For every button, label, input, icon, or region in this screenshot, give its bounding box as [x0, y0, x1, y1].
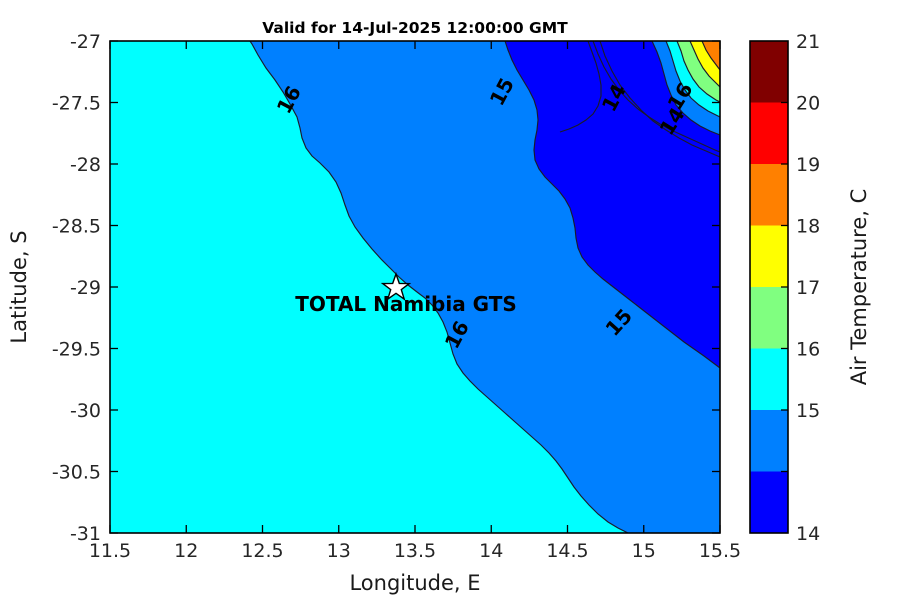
y-tick-label: -28.5 — [52, 216, 101, 238]
colorbar-band-13-14 — [750, 472, 788, 534]
contour-fill-group: 16 15 14 16 14 16 15 TOTAL Namibia GTS — [110, 41, 720, 533]
x-tick-label: 14 — [479, 540, 503, 562]
y-tick-label: -30 — [70, 400, 101, 422]
x-axis-title: Longitude, E — [349, 571, 480, 595]
y-tick-label: -29.5 — [52, 339, 101, 361]
colorbar-tick-label: 19 — [796, 154, 820, 176]
y-axis-title: Latitude, S — [7, 230, 31, 343]
x-tick-label: 12 — [174, 540, 198, 562]
colorbar-tick-label: 16 — [796, 339, 820, 361]
y-tick-label: -27.5 — [52, 93, 101, 115]
colorbar-band-18-19 — [750, 164, 788, 226]
colorbar-band-17-18 — [750, 226, 788, 288]
station-label: TOTAL Namibia GTS — [295, 292, 517, 316]
x-tick-label: 15.5 — [699, 540, 741, 562]
colorbar-tick-label: 21 — [796, 31, 820, 53]
colorbar-tick-label: 15 — [796, 400, 820, 422]
colorbar-tick-label: 20 — [796, 93, 820, 115]
y-tick-label: -30.5 — [52, 462, 101, 484]
x-tick-label: 14.5 — [546, 540, 588, 562]
colorbar-band-20-21 — [750, 41, 788, 103]
x-tick-label: 15 — [632, 540, 656, 562]
colorbar-band-15-16 — [750, 349, 788, 411]
colorbar-tick-label: 18 — [796, 216, 820, 238]
y-tick-label: -29 — [70, 277, 101, 299]
colorbar-band-19-20 — [750, 103, 788, 165]
colorbar-band-14-15 — [750, 410, 788, 472]
colorbar-tick-label: 14 — [796, 523, 820, 545]
y-tick-label: -31 — [70, 523, 101, 545]
contour-map-figure: 16 15 14 16 14 16 15 TOTAL Namibia GTS — [0, 0, 900, 600]
colorbar-tick-label: 17 — [796, 277, 820, 299]
y-tick-label: -27 — [70, 31, 101, 53]
y-axis-tick-labels: -27 -27.5 -28 -28.5 -29 -29.5 -30 -30.5 … — [52, 31, 101, 545]
figure-canvas: 16 15 14 16 14 16 15 TOTAL Namibia GTS — [0, 0, 900, 600]
colorbar: 21 20 19 18 17 16 15 14 Air Temperature,… — [750, 31, 871, 545]
page-title: Valid for 14-Jul-2025 12:00:00 GMT — [262, 19, 568, 37]
colorbar-title: Air Temperature, C — [847, 189, 871, 386]
colorbar-band-16-17 — [750, 287, 788, 349]
x-tick-label: 12.5 — [241, 540, 283, 562]
x-axis-tick-labels: 11.5 12 12.5 13 13.5 14 14.5 15 15.5 — [89, 540, 741, 562]
y-tick-label: -28 — [70, 154, 101, 176]
x-tick-label: 13 — [327, 540, 351, 562]
x-tick-label: 13.5 — [394, 540, 436, 562]
